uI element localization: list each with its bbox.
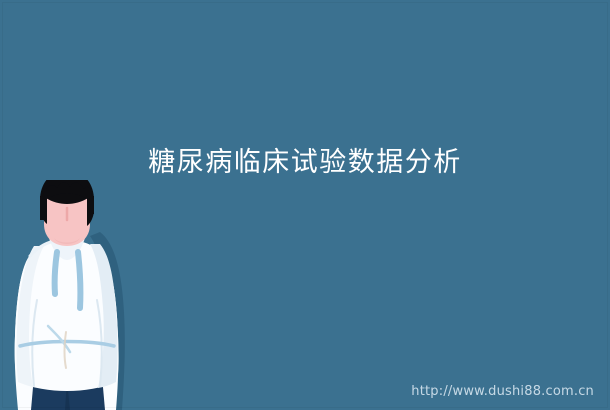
- person-illustration: [4, 180, 144, 410]
- page-title: 糖尿病临床试验数据分析: [0, 148, 610, 178]
- watermark-url: http://www.dushi88.com.cn: [411, 384, 594, 399]
- promo-banner: 糖尿病临床试验数据分析 http://www.dushi88.com.cn: [0, 0, 610, 410]
